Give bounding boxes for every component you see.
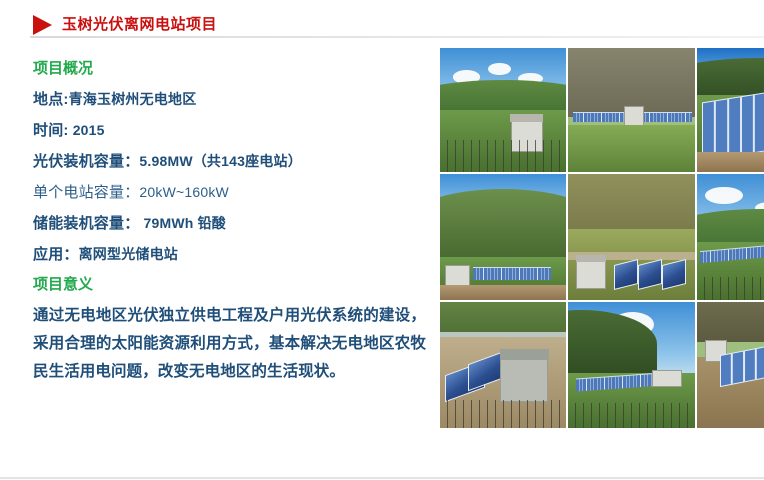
gallery-photo[interactable] <box>697 302 764 428</box>
significance-paragraph: 通过无电地区光伏独立供电工程及户用光伏系统的建设，采用合理的太阳能资源利用方式，… <box>33 302 426 386</box>
section-heading-significance: 项目意义 <box>33 270 433 300</box>
page-title: 玉树光伏离网电站项目 <box>62 13 217 34</box>
gallery-photo[interactable] <box>697 48 764 172</box>
spec-storage-capacity: 储能装机容量： 79MWh 铅酸 <box>33 208 433 239</box>
spec-application: 应用：离网型光储电站 <box>33 239 433 270</box>
gallery-photo[interactable] <box>568 174 695 300</box>
slide-header: 玉树光伏离网电站项目 <box>0 0 764 40</box>
spec-location: 地点:青海玉树州无电地区 <box>33 84 433 115</box>
triangle-right-icon <box>33 15 52 35</box>
section-heading-overview: 项目概况 <box>33 54 433 84</box>
gallery-photo[interactable] <box>440 48 566 172</box>
gallery-photo[interactable] <box>440 302 566 428</box>
photo-gallery <box>440 48 764 428</box>
spec-application-label: 应用： <box>33 246 79 263</box>
gallery-photo[interactable] <box>568 48 695 172</box>
spec-time-value: 2015 <box>69 122 105 138</box>
gallery-photo[interactable] <box>568 302 695 428</box>
spec-single-station-value: 20kW~160kW <box>139 184 229 200</box>
spec-storage-capacity-label: 储能装机容量： <box>33 215 139 232</box>
footer-divider <box>0 477 764 479</box>
gallery-photo[interactable] <box>697 174 764 300</box>
spec-pv-capacity-value: 5.98MW（共143座电站） <box>139 153 301 169</box>
spec-application-value: 离网型光储电站 <box>79 246 178 262</box>
spec-storage-capacity-value: 79MWh 铅酸 <box>139 215 226 231</box>
spec-time-label: 时间: <box>33 122 69 139</box>
spec-pv-capacity-label: 光伏装机容量： <box>33 153 139 170</box>
spec-location-value: 青海玉树州无电地区 <box>69 91 197 107</box>
spec-pv-capacity: 光伏装机容量：5.98MW（共143座电站） <box>33 146 433 177</box>
spec-single-station: 单个电站容量：20kW~160kW <box>33 177 433 208</box>
header-divider <box>30 36 764 38</box>
spec-location-label: 地点: <box>33 91 69 108</box>
spec-time: 时间: 2015 <box>33 115 433 146</box>
spec-single-station-label: 单个电站容量： <box>33 184 139 201</box>
gallery-photo[interactable] <box>440 174 566 300</box>
text-column: 项目概况 地点:青海玉树州无电地区 时间: 2015 光伏装机容量：5.98MW… <box>33 54 433 386</box>
